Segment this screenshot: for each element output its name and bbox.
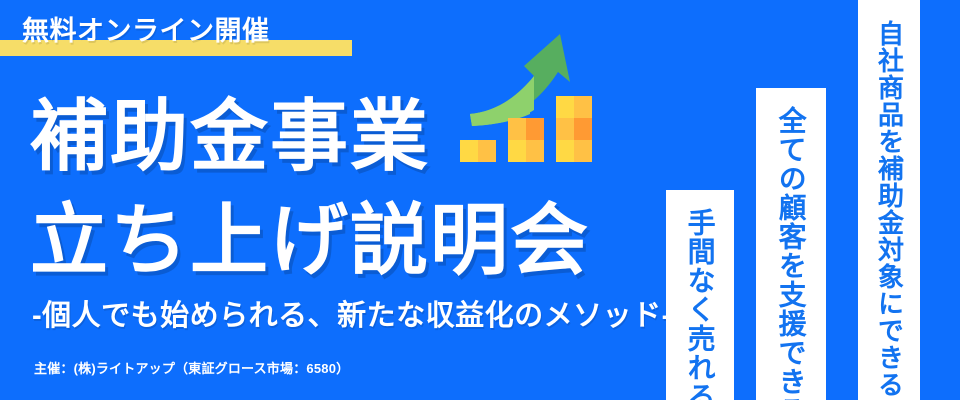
benefit-panel-2: 全ての顧客を支援できる — [756, 88, 826, 400]
benefit-panel-2-label: 全ての顧客を支援できる — [775, 88, 806, 400]
banner-left-content: 無料オンライン開催 補助金事業 立ち上げ説明会 -個人でも始められる、新たな収益… — [0, 0, 660, 400]
headline-line-2: 立ち上げ説明会 — [30, 196, 590, 284]
benefit-panel-1-label: 手間なく売れる — [684, 190, 715, 400]
chart-bar-2 — [508, 118, 544, 162]
headline-line-1: 補助金事業 — [30, 92, 430, 180]
benefit-panel-1: 手間なく売れる — [666, 190, 734, 400]
chart-bar-3 — [556, 96, 592, 162]
eyebrow-badge: 無料オンライン開催 — [22, 14, 270, 54]
eyebrow-label: 無料オンライン開催 — [22, 14, 270, 48]
banner-subtitle: -個人でも始められる、新たな収益化のメソッド- — [32, 298, 672, 334]
benefit-panel-3: 自社商品を補助金対象にできる — [858, 0, 920, 400]
growth-arrow-icon — [470, 34, 570, 126]
benefit-panel-3-label: 自社商品を補助金対象にできる — [874, 0, 903, 400]
growth-chart-icon — [452, 22, 612, 172]
promo-banner: 無料オンライン開催 補助金事業 立ち上げ説明会 -個人でも始められる、新たな収益… — [0, 0, 960, 400]
chart-bar-1 — [460, 140, 496, 162]
organizer-credit: 主催：(株)ライトアップ（東証グロース市場：6580） — [34, 360, 349, 378]
